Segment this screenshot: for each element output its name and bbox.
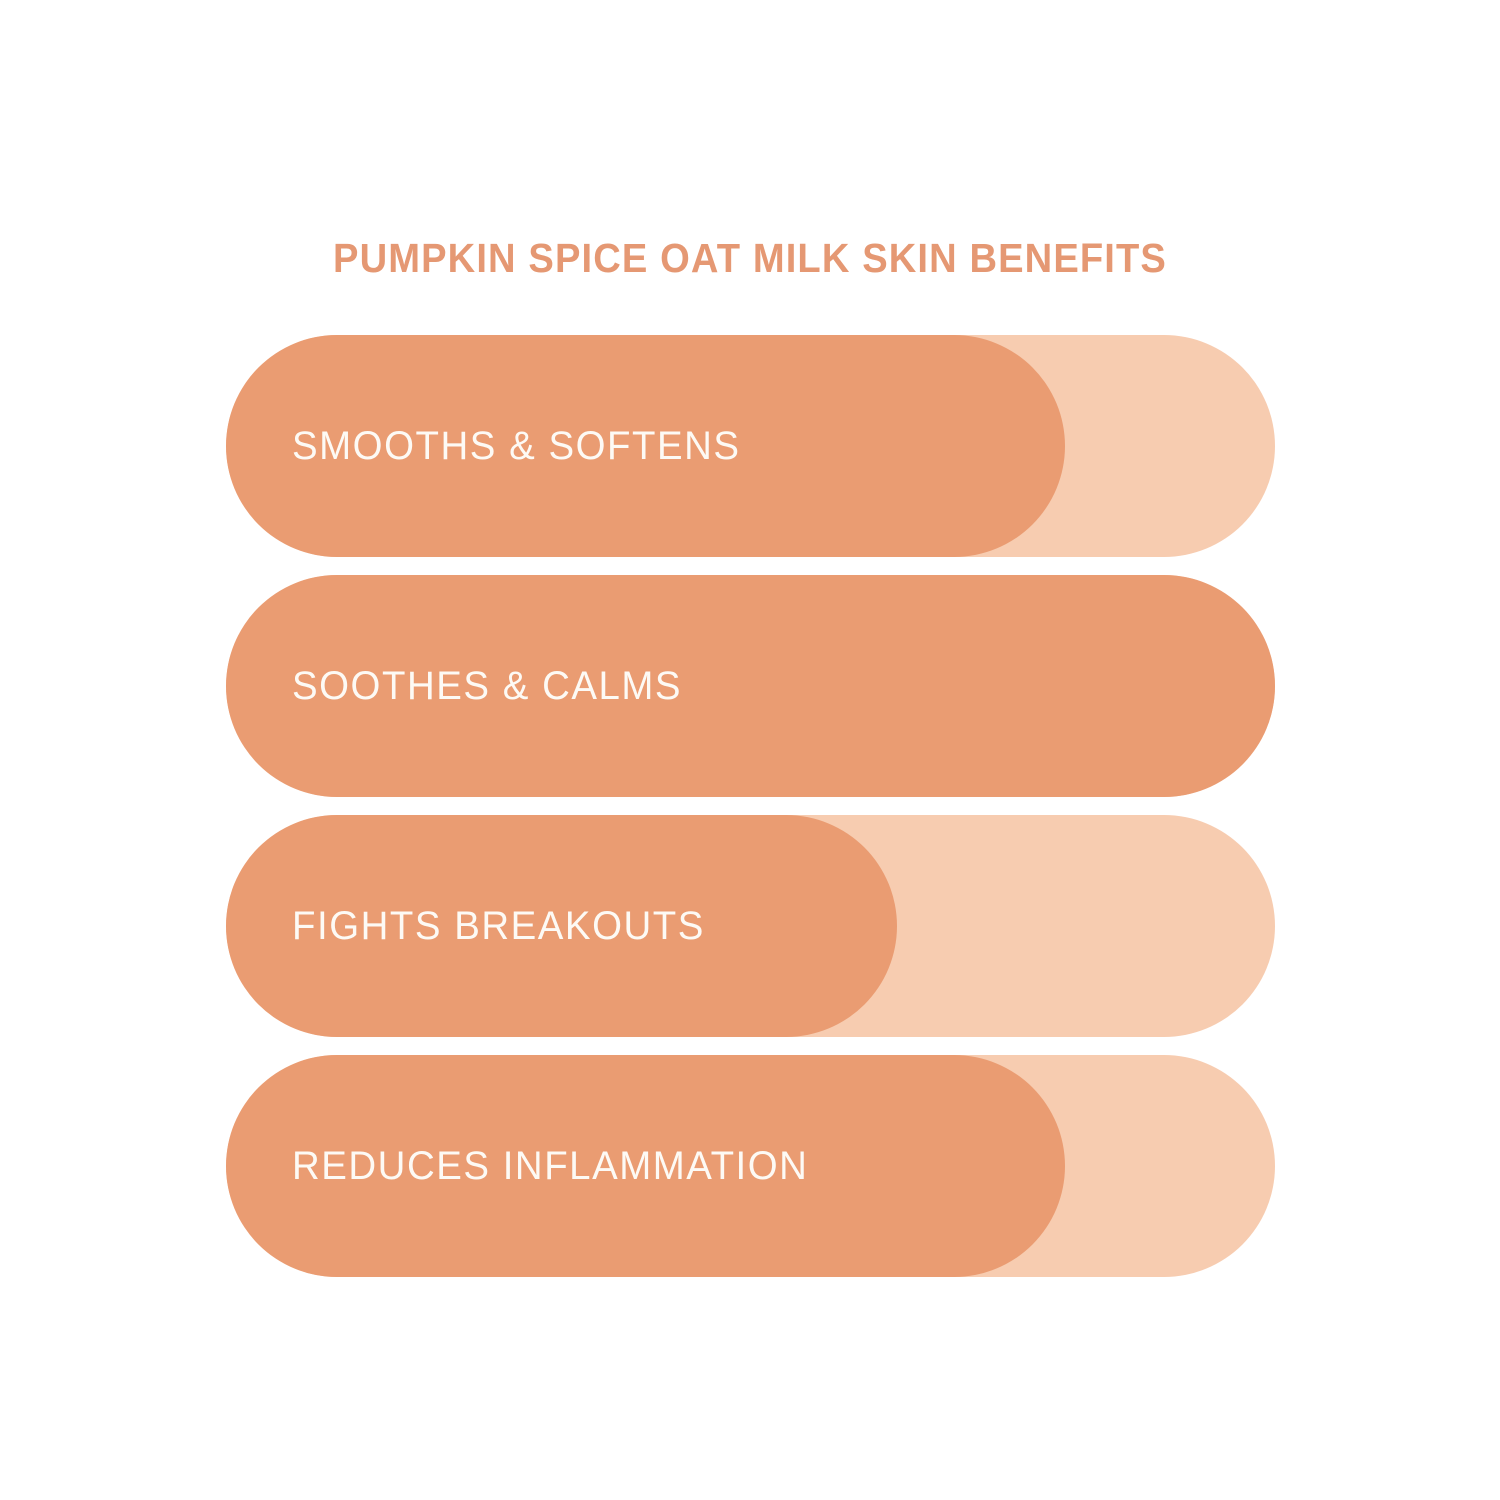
table-row: SOOTHES & CALMS xyxy=(226,575,1275,797)
bar-fill-reduces-inflammation xyxy=(226,1055,1065,1277)
table-row: SMOOTHS & SOFTENS xyxy=(226,335,1275,557)
bar-fill-fights-breakouts xyxy=(226,815,897,1037)
pumpkin-spice-benefits-infographic: PUMPKIN SPICE OAT MILK SKIN BENEFITS SMO… xyxy=(0,0,1500,1500)
bar-fill-soothes-calms xyxy=(226,575,1275,797)
table-row: REDUCES INFLAMMATION xyxy=(226,1055,1275,1277)
table-row: FIGHTS BREAKOUTS xyxy=(226,815,1275,1037)
bar-fill-smooths-softens xyxy=(226,335,1065,557)
page-title: PUMPKIN SPICE OAT MILK SKIN BENEFITS xyxy=(53,238,1448,279)
benefits-bar-chart: SMOOTHS & SOFTENS SOOTHES & CALMS FIGHTS… xyxy=(226,335,1275,1277)
